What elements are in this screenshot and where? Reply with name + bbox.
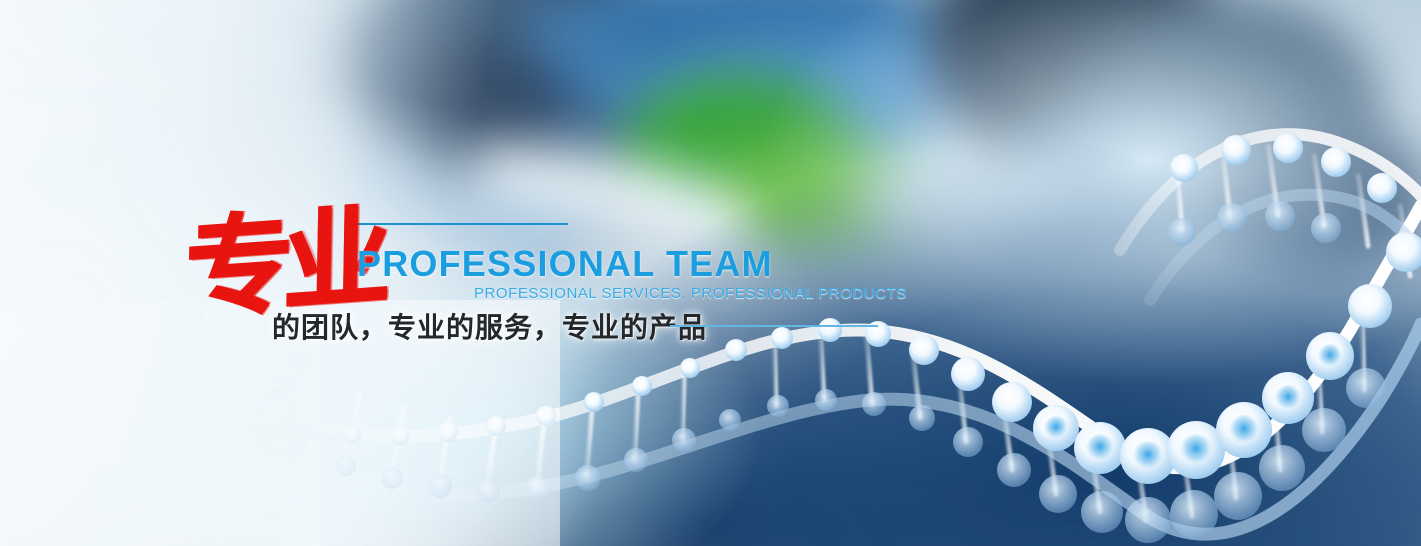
subtitle: PROFESSIONAL SERVICES, PROFESSIONAL PROD… — [474, 285, 907, 302]
chinese-tagline: 的团队，专业的服务，专业的产品 — [272, 306, 707, 346]
bottom-divider-rule — [670, 325, 878, 327]
top-divider-rule — [355, 223, 568, 225]
professional-team-banner: 专业 PROFESSIONAL TEAM PROFESSIONAL SERVIC… — [0, 0, 1421, 546]
page-title: PROFESSIONAL TEAM — [357, 243, 773, 285]
banner-text-block: 专业 PROFESSIONAL TEAM PROFESSIONAL SERVIC… — [0, 0, 1421, 546]
